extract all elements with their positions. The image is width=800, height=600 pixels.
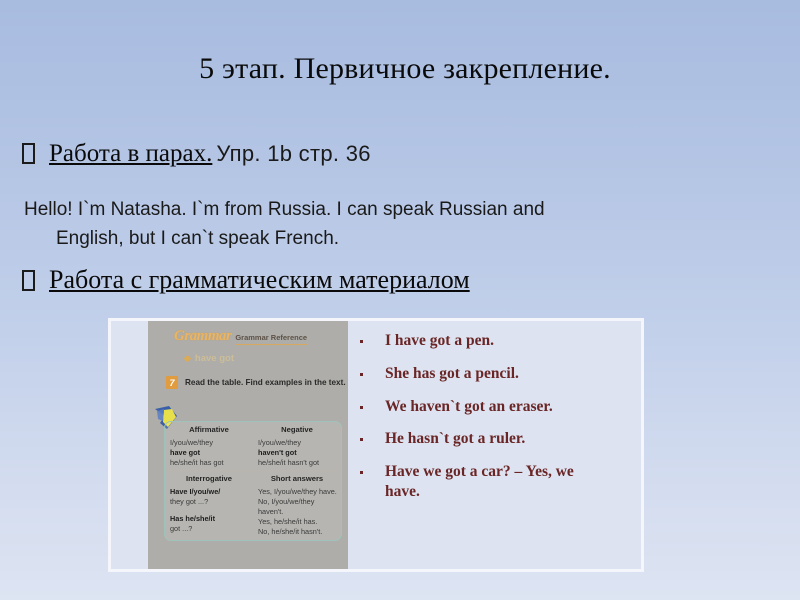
square-bullet-icon [360,471,363,474]
table-row: I/you/we/they have got he/she/it has got… [165,436,341,470]
negative-line-2: haven't got [258,448,337,458]
bullet-marker-icon [22,143,35,164]
table-row: Have I/you/we/ they got ...? Has he/she/… [165,485,341,539]
slide-root: 5 этап. Первичное закрепление. Работа в … [0,0,800,600]
example-text: We haven`t got an eraser. [385,397,553,417]
content-panel: Grammar Grammar Reference ◆have got 7 Re… [108,318,644,572]
affirmative-line-1: I/you/we/they [170,438,249,448]
square-bullet-icon [360,406,363,409]
short-answer-line-2: No, I/you/we/they [258,497,337,507]
th-affirmative: Affirmative [165,422,253,436]
bullet-marker-icon [22,270,35,291]
td-short-answers: Yes, I/you/we/they have. No, I/you/we/th… [253,485,341,539]
dialogue-paragraph: Hello! I`m Natasha. I`m from Russia. I c… [24,196,684,253]
list-item: We haven`t got an eraser. [360,397,631,417]
example-text: Have we got a car? – Yes, we have. [385,462,585,502]
th-interrogative: Interrogative [165,471,253,485]
bullet-1-exercise-ref: Упр. 1b стр. 36 [216,141,370,167]
td-negative: I/you/we/they haven't got he/she/it hasn… [253,436,341,470]
grammar-reference-label: Grammar Reference [235,333,307,345]
short-answer-line-5: No, he/she/it hasn't. [258,527,337,537]
interrogative-line-4: got ...? [170,524,249,534]
short-answer-line-3: haven't. [258,507,337,517]
list-item: She has got a pencil. [360,364,631,384]
examples-list: I have got a pen. She has got a pencil. … [348,321,641,569]
short-answer-line-1: Yes, I/you/we/they have. [258,487,337,497]
interrogative-line-3: Has he/she/it [170,514,249,524]
affirmative-line-3: he/she/it has got [170,458,249,468]
table-header-row-2: Interrogative Short answers [165,471,341,485]
dialogue-line-1: Hello! I`m Natasha. I`m from Russia. I c… [24,199,545,220]
grammar-task: 7 Read the table. Find examples in the t… [166,376,346,389]
grammar-subheading-label: have got [195,353,234,364]
bullet-1-label: Работа в парах. [49,140,212,168]
list-item: He hasn`t got a ruler. [360,429,631,449]
task-instruction: Read the table. Find examples in the tex… [185,378,346,387]
grammar-title: Grammar [174,328,231,345]
square-bullet-icon [360,373,363,376]
example-text: He hasn`t got a ruler. [385,429,525,449]
dialogue-line-2: English, but I can`t speak French. [24,225,684,254]
grammar-reference-image: Grammar Grammar Reference ◆have got 7 Re… [148,321,348,569]
list-item: Have we got a car? – Yes, we have. [360,462,631,502]
example-text: I have got a pen. [385,331,494,351]
bullet-item-1: Работа в парах. Упр. 1b стр. 36 [22,140,371,168]
th-short-answers: Short answers [253,471,341,485]
task-number-badge: 7 [166,376,178,389]
bullet-2-label: Работа с грамматическим материалом [49,265,470,295]
example-text: She has got a pencil. [385,364,519,384]
square-bullet-icon [360,340,363,343]
grammar-table: Affirmative Negative I/you/we/they have … [164,421,342,541]
short-answer-line-4: Yes, he/she/it has. [258,517,337,527]
diamond-bullet-icon: ◆ [184,353,191,363]
th-negative: Negative [253,422,341,436]
negative-line-1: I/you/we/they [258,438,337,448]
grammar-image-header: Grammar Grammar Reference [174,328,307,345]
affirmative-line-2: have got [170,448,249,458]
td-interrogative: Have I/you/we/ they got ...? Has he/she/… [165,485,253,539]
table-header-row-1: Affirmative Negative [165,422,341,436]
td-affirmative: I/you/we/they have got he/she/it has got [165,436,253,470]
bullet-item-2: Работа с грамматическим материалом [22,265,470,295]
negative-line-3: he/she/it hasn't got [258,458,337,468]
list-item: I have got a pen. [360,331,631,351]
interrogative-line-1: Have I/you/we/ [170,487,249,497]
page-title: 5 этап. Первичное закрепление. [60,52,750,85]
square-bullet-icon [360,438,363,441]
grammar-subheading: ◆have got [184,353,234,364]
interrogative-line-2: they got ...? [170,497,249,507]
